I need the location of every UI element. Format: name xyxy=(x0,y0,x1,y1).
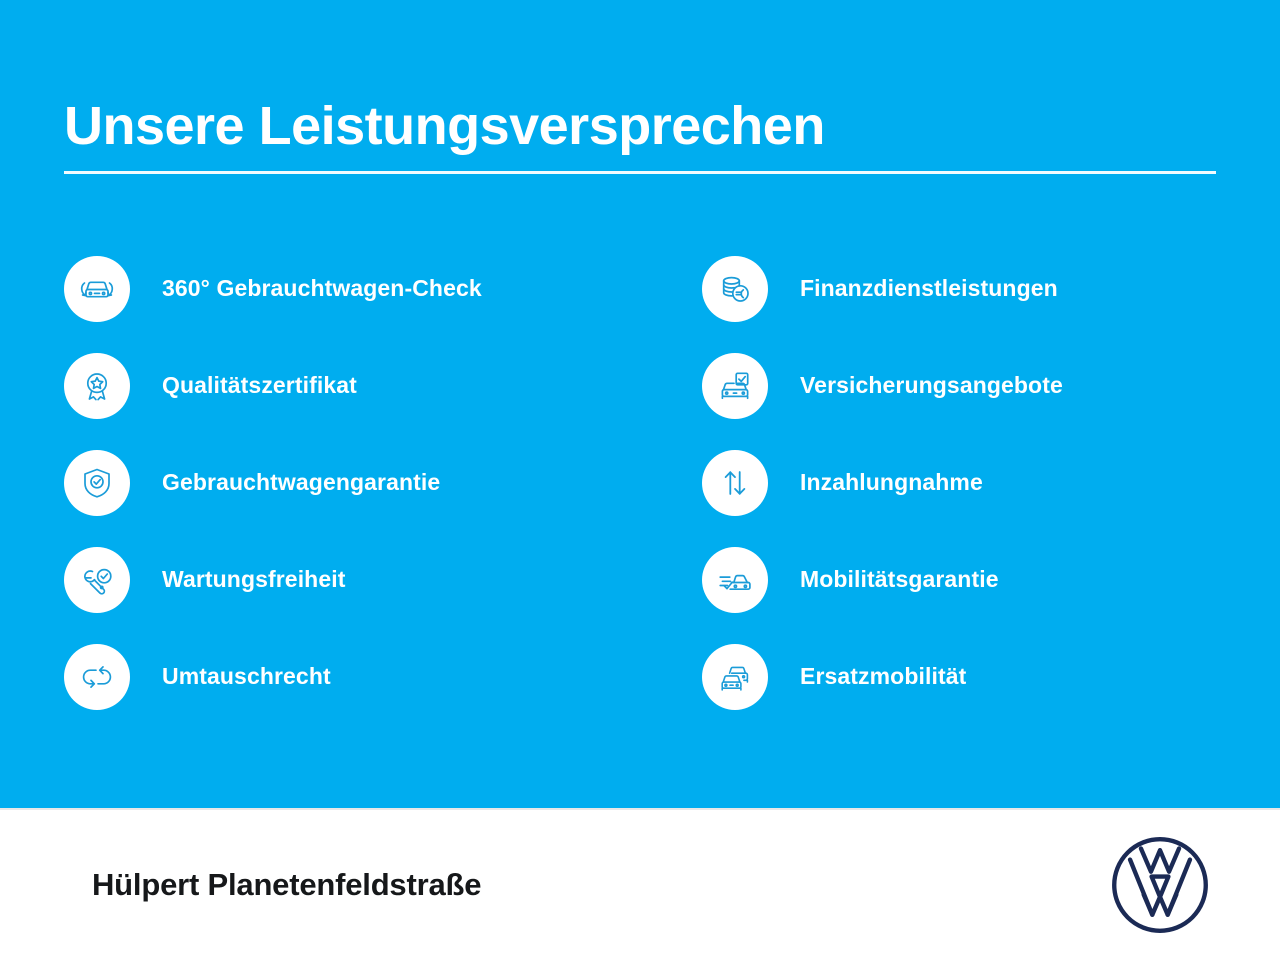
car-360-check-icon xyxy=(64,256,130,322)
promise-label: Ersatzmobilität xyxy=(800,663,966,690)
award-rosette-icon xyxy=(64,353,130,419)
title-divider xyxy=(64,171,1216,174)
promise-item-umtauschrecht[interactable]: Umtauschrecht xyxy=(64,628,650,725)
promise-item-wartungsfreiheit[interactable]: Wartungsfreiheit xyxy=(64,531,650,628)
promises-column-left: 360° Gebrauchtwagen-Check Qualitätszerti… xyxy=(0,240,650,725)
promises-column-right: Finanzdienstleistungen xyxy=(650,240,1280,725)
exchange-arrows-icon xyxy=(64,644,130,710)
promise-label: Umtauschrecht xyxy=(162,663,331,690)
promise-page: Unsere Leistungsversprechen xyxy=(0,0,1280,960)
car-speed-icon xyxy=(702,547,768,613)
car-checklist-icon xyxy=(702,353,768,419)
two-cars-icon xyxy=(702,644,768,710)
up-down-arrows-icon xyxy=(702,450,768,516)
dealer-name: Hülpert Planetenfeldstraße xyxy=(92,867,481,903)
promise-item-ersatzmobilitaet[interactable]: Ersatzmobilität xyxy=(702,628,1280,725)
coins-euro-icon xyxy=(702,256,768,322)
promise-item-mobilitaetsgarantie[interactable]: Mobilitätsgarantie xyxy=(702,531,1280,628)
shield-check-icon xyxy=(64,450,130,516)
promise-label: Versicherungsangebote xyxy=(800,372,1063,399)
promise-item-versicherungsangebote[interactable]: Versicherungsangebote xyxy=(702,337,1280,434)
promise-label: Finanzdienstleistungen xyxy=(800,275,1058,302)
promise-item-gebrauchtwagen-check[interactable]: 360° Gebrauchtwagen-Check xyxy=(64,240,650,337)
volkswagen-logo xyxy=(1108,833,1212,937)
promises-panel: Unsere Leistungsversprechen xyxy=(0,0,1280,808)
promise-item-inzahlungnahme[interactable]: Inzahlungnahme xyxy=(702,434,1280,531)
promise-item-gebrauchtwagengarantie[interactable]: Gebrauchtwagengarantie xyxy=(64,434,650,531)
promise-item-finanzdienstleistungen[interactable]: Finanzdienstleistungen xyxy=(702,240,1280,337)
promise-label: Gebrauchtwagengarantie xyxy=(162,469,440,496)
promise-item-qualitaetszertifikat[interactable]: Qualitätszertifikat xyxy=(64,337,650,434)
page-title: Unsere Leistungsversprechen xyxy=(64,98,825,155)
wrench-check-icon xyxy=(64,547,130,613)
promises-grid: 360° Gebrauchtwagen-Check Qualitätszerti… xyxy=(0,240,1280,725)
promise-label: 360° Gebrauchtwagen-Check xyxy=(162,275,482,302)
promise-label: Wartungsfreiheit xyxy=(162,566,345,593)
promise-label: Qualitätszertifikat xyxy=(162,372,357,399)
promise-label: Inzahlungnahme xyxy=(800,469,983,496)
dealer-footer: Hülpert Planetenfeldstraße xyxy=(0,808,1280,960)
promise-label: Mobilitätsgarantie xyxy=(800,566,999,593)
